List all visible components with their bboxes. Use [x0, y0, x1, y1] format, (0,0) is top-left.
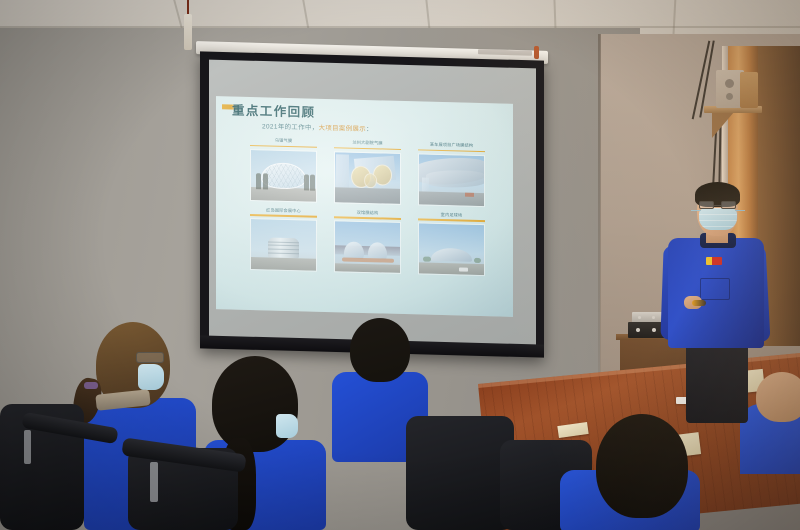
attendee-front-left-glasses: [136, 352, 164, 363]
caption-underline: [418, 218, 485, 221]
slide-cell: 兰州大剧院气膜: [334, 139, 401, 204]
thumbnail-caption: 某车展项目广场膜结构: [417, 141, 485, 149]
slide-title: 重点工作回顾: [232, 100, 315, 121]
caption-underline: [250, 214, 317, 217]
presenter-face-mask: [699, 208, 737, 230]
chair-post-left: [24, 430, 31, 464]
caption-underline: [250, 145, 317, 148]
thumbnail-twin-dome: [334, 220, 401, 274]
slide-cell: 乌镇气膜: [250, 137, 317, 202]
company-logo-badge: [706, 257, 722, 265]
thumbnail-caption: 室内足球场: [417, 211, 485, 219]
subtitle-prefix: 2021年的工作中，: [262, 123, 319, 131]
attendee-front-left-mask: [138, 364, 164, 390]
attendee-front-left-hairtie: [84, 382, 98, 389]
thumbnail-canopy: [334, 151, 401, 205]
thumbnail-cylinder: [250, 218, 317, 272]
chair-post-center: [150, 462, 158, 502]
wall-corner: [598, 34, 601, 374]
presenter-jacket-pocket: [700, 278, 730, 300]
attendee-foreground-right-head: [596, 414, 688, 518]
thumbnail-caption: 双馆膜结构: [333, 209, 401, 217]
thumbnail-dome: [250, 149, 317, 203]
slide-subtitle: 2021年的工作中，大项目案例展示：: [262, 121, 373, 133]
slide-row: 红岛国际会展中心 双馆膜结构: [250, 207, 486, 277]
thumbnail-arena: [418, 223, 485, 277]
slide-image-grid: 乌镇气膜 兰州大剧院气膜: [250, 137, 486, 282]
slide-cell: 双馆膜结构: [334, 209, 401, 274]
attendee-back-right-head: [350, 318, 410, 382]
housing-hook: [534, 46, 539, 59]
subtitle-suffix: ：: [366, 126, 373, 133]
chair-back-right: [406, 416, 514, 530]
speaker-wood-block: [740, 72, 758, 108]
thumbnail-caption: 兰州大剧院气膜: [333, 139, 401, 147]
presenter-glasses: [699, 201, 736, 209]
screen-left-bracket: [184, 14, 192, 50]
conference-room-scene: 重点工作回顾 2021年的工作中，大项目案例展示： 乌镇气膜 兰州大剧院气膜: [0, 0, 800, 530]
thumbnail-sweep: [418, 153, 485, 207]
slide-cell: 室内足球场: [418, 211, 485, 276]
slide-cell: 某车展项目广场膜结构: [418, 141, 485, 206]
attendee-far-right-head: [756, 372, 800, 422]
slide-cell: 红岛国际会展中心: [250, 207, 317, 272]
slide-row: 乌镇气膜 兰州大剧院气膜: [250, 137, 486, 207]
thumbnail-caption: 红岛国际会展中心: [249, 207, 317, 215]
caption-underline: [418, 149, 485, 152]
attendee-center-mask: [276, 414, 298, 438]
thumbnail-caption: 乌镇气膜: [249, 137, 317, 145]
caption-underline: [334, 147, 401, 150]
presentation-clicker: [692, 300, 706, 306]
caption-underline: [334, 216, 401, 219]
presentation-slide: 重点工作回顾 2021年的工作中，大项目案例展示： 乌镇气膜 兰州大剧院气膜: [216, 96, 513, 317]
subtitle-highlight: 大项目案例展示: [319, 125, 367, 133]
